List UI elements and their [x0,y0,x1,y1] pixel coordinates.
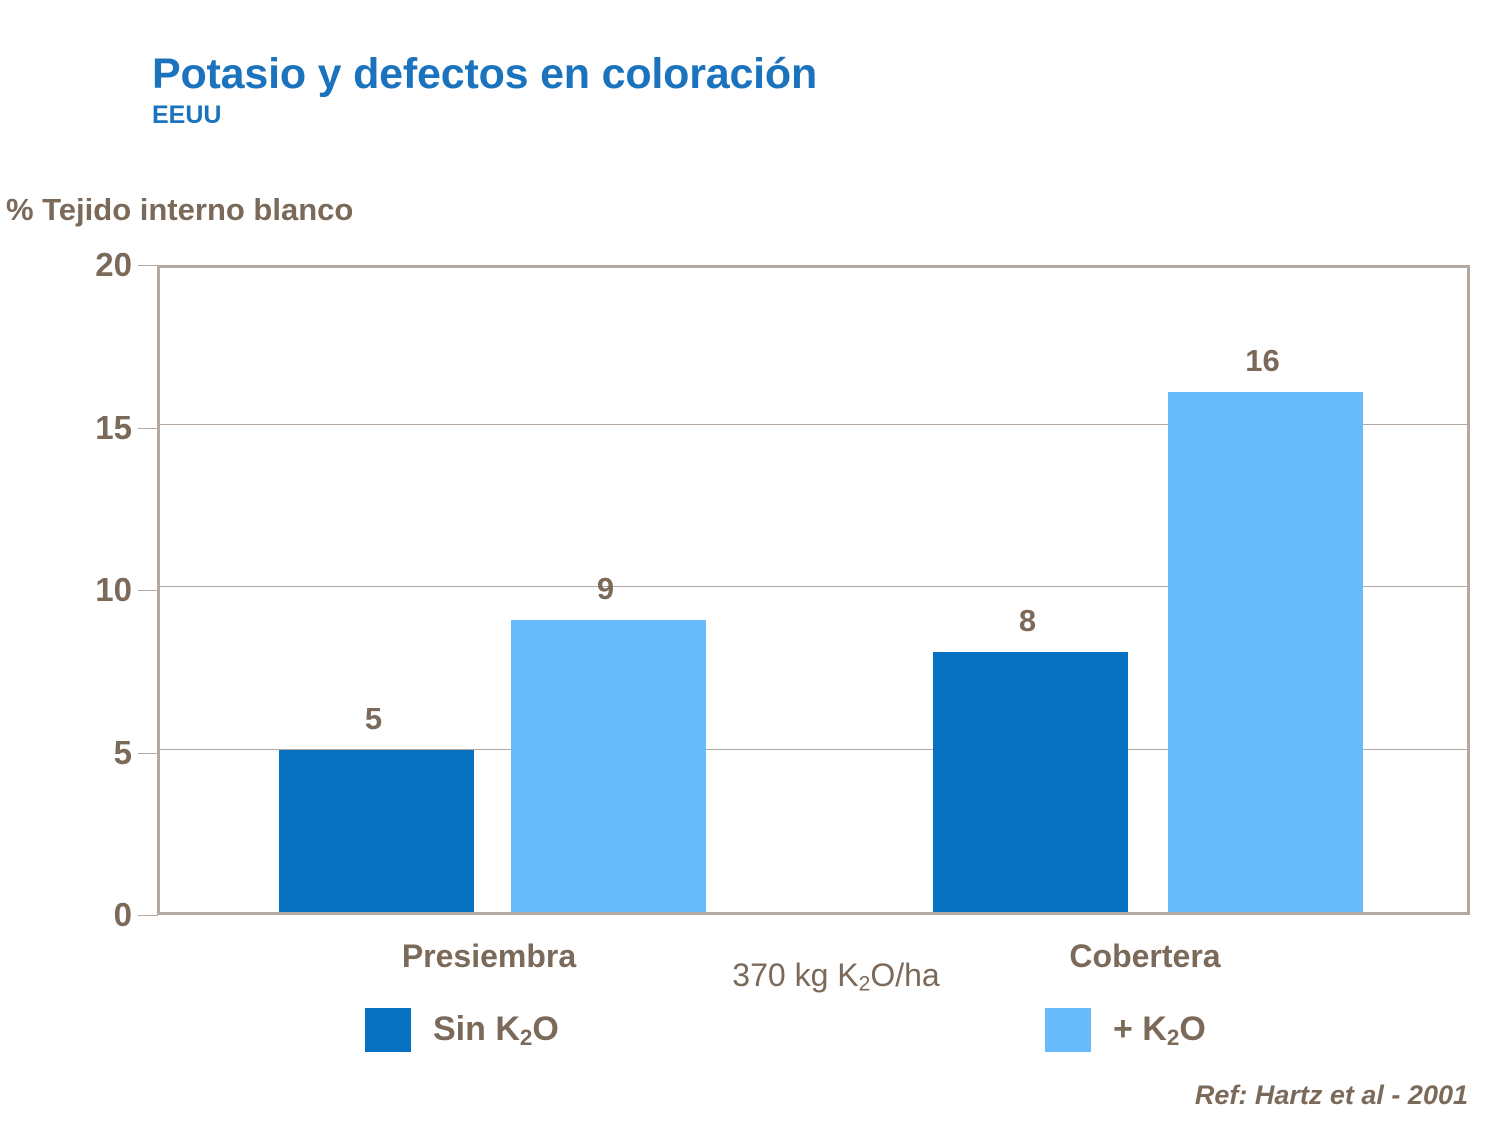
bar-value-label: 8 [1019,603,1036,639]
y-tick-mark [138,265,158,266]
bar [933,652,1128,912]
title-block: Potasio y defectos en coloración EEUU [152,52,817,128]
bar [1168,392,1363,912]
y-tick-mark [138,428,158,429]
y-tick-mark [138,753,158,754]
y-tick-mark [138,915,158,916]
y-tick-label: 15 [22,409,132,447]
bar [279,750,474,913]
bar-value-label: 9 [597,571,614,607]
y-tick-label: 5 [22,734,132,772]
y-axis-title: % Tejido interno blanco [6,192,353,228]
legend-swatch [365,1008,411,1052]
legend-swatch [1045,1008,1091,1052]
category-label: Presiembra [402,938,576,975]
slide-canvas: Potasio y defectos en coloración EEUU % … [0,0,1500,1125]
dose-annotation: 370 kg K2O/ha [732,957,939,997]
legend-label: Sin K2O [433,1010,559,1051]
legend-item[interactable]: Sin K2O [365,1008,559,1052]
category-label: Cobertera [1069,938,1220,975]
page-subtitle: EEUU [152,103,817,128]
legend-item[interactable]: + K2O [1045,1008,1206,1052]
bar [511,620,706,913]
bar-value-label: 16 [1245,343,1279,379]
y-tick-label: 0 [22,896,132,934]
legend: Sin K2O+ K2O [0,1000,1500,1056]
y-tick-mark [138,590,158,591]
legend-label: + K2O [1113,1010,1206,1051]
reference-note: Ref: Hartz et al - 2001 [1195,1080,1468,1111]
y-tick-label: 10 [22,571,132,609]
y-tick-label: 20 [22,246,132,284]
page-title: Potasio y defectos en coloración [152,52,817,97]
bar-value-label: 5 [365,701,382,737]
